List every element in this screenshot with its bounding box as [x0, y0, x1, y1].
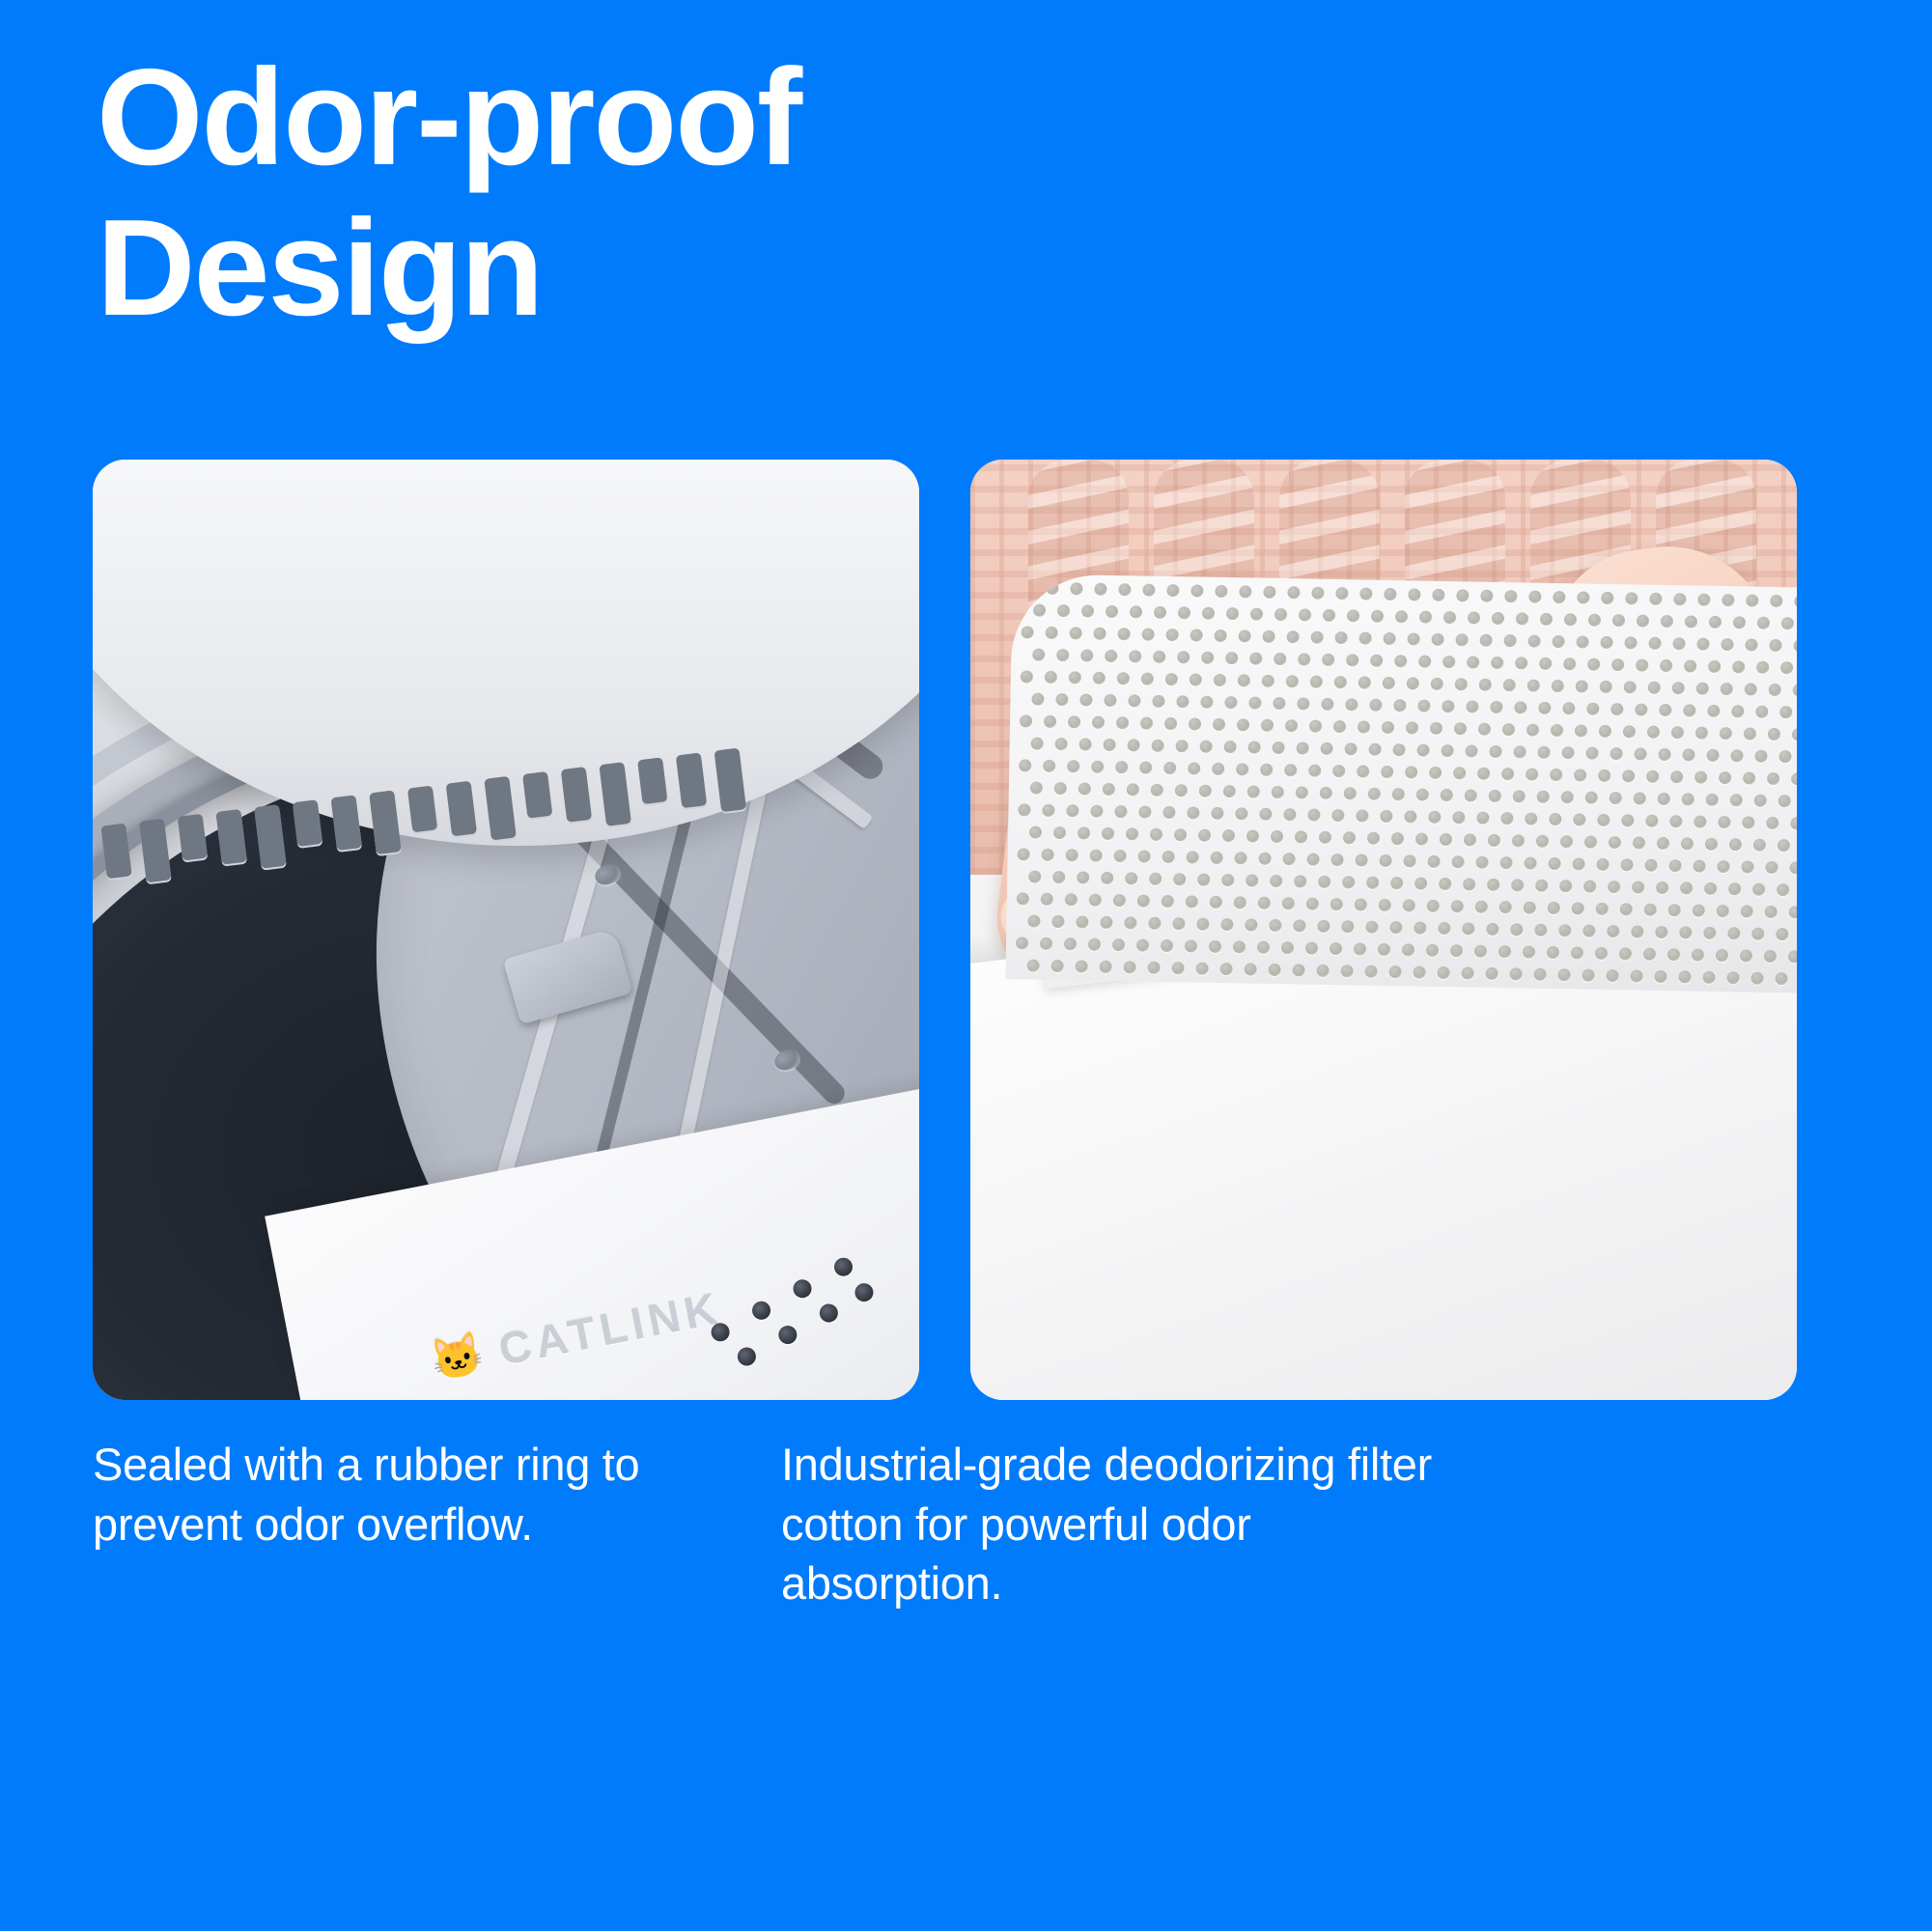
drawer-hole	[1365, 921, 1378, 934]
feature-card-left: 🐱 CATLINK	[93, 460, 919, 1400]
drawer-hole	[1018, 803, 1030, 816]
drawer-hole	[1292, 964, 1304, 976]
drawer-hole	[1646, 770, 1659, 783]
drawer-hole	[1540, 613, 1553, 626]
drawer-hole	[1273, 742, 1285, 754]
drawer-hole	[1056, 649, 1069, 661]
drawer-hole	[1141, 673, 1154, 686]
drawer-hole	[1668, 859, 1681, 872]
drawer-hole	[1172, 962, 1185, 974]
drawer-hole	[1101, 872, 1113, 884]
drawer-hole	[1305, 942, 1318, 955]
drawer-hole	[1659, 704, 1671, 716]
drawer-hole	[1415, 833, 1428, 846]
drawer-hole	[1042, 849, 1054, 861]
drawer-hole	[1323, 609, 1335, 622]
drawer-hole	[1769, 684, 1781, 696]
drawer-hole	[1213, 718, 1225, 731]
drawer-hole	[1414, 921, 1426, 934]
drawer-hole	[1462, 922, 1474, 935]
drawer-hole	[1778, 750, 1791, 763]
drawer-hole	[1021, 670, 1033, 683]
drawer-hole	[1200, 741, 1213, 753]
drawer-hole	[1246, 874, 1258, 886]
drawer-hole	[1188, 762, 1200, 774]
drawer-hole	[1331, 809, 1344, 822]
drawer-hole	[1717, 905, 1729, 917]
drawer-hole	[1066, 849, 1078, 861]
drawer-hole	[1210, 896, 1222, 909]
drawer-hole	[1513, 745, 1526, 758]
drawer-hole	[1779, 706, 1792, 718]
drawer-hole	[1600, 681, 1612, 693]
drawer-hole	[1045, 671, 1057, 684]
filter-install-photo	[970, 460, 1797, 1400]
drawer-hole	[1019, 759, 1031, 771]
drawer-hole	[1731, 705, 1744, 717]
drawer-hole	[1525, 812, 1537, 825]
drawer-hole	[1238, 674, 1250, 686]
drawer-hole	[1432, 589, 1444, 602]
drawer-hole	[1371, 610, 1384, 623]
drawer-hole	[1622, 770, 1635, 782]
drawer-hole	[1175, 784, 1188, 797]
drawer-hole	[1281, 941, 1294, 954]
vent-slot	[599, 762, 631, 826]
drawer-hole	[1461, 966, 1473, 979]
drawer-hole	[1311, 587, 1324, 600]
drawer-hole	[1499, 856, 1512, 869]
drawer-hole	[1384, 632, 1396, 645]
drawer-hole	[1187, 806, 1199, 819]
drawer-hole	[1089, 894, 1102, 907]
drawer-hole	[1260, 764, 1273, 776]
drawer-hole	[1788, 950, 1797, 963]
drawer-hole	[1248, 741, 1261, 753]
drawer-hole	[1438, 922, 1450, 935]
drawer-hole	[1597, 814, 1610, 826]
drawer-hole	[1269, 964, 1281, 976]
drawer-hole	[1601, 592, 1613, 604]
drawer-hole	[1491, 657, 1503, 669]
drawer-hole	[1117, 672, 1130, 685]
drawer-hole	[1563, 658, 1576, 670]
drawer-hole	[1537, 791, 1550, 803]
drawer-hole	[1382, 721, 1394, 734]
drawer-hole	[1684, 659, 1696, 672]
drawer-hole	[1090, 850, 1103, 862]
drawer-hole	[1523, 945, 1535, 958]
drawer-hole	[1789, 906, 1797, 918]
drawer-hole	[1222, 829, 1235, 842]
drawer-hole	[1516, 612, 1528, 625]
drawer-hole	[1355, 898, 1367, 910]
drawer-hole	[1297, 697, 1309, 710]
drawer-hole	[1236, 763, 1248, 775]
drawer-hole	[1718, 816, 1730, 828]
feature-card-right	[970, 460, 1797, 1400]
drawer-hole	[1416, 789, 1429, 801]
drawer-hole	[1574, 769, 1586, 781]
drawer-hole	[1549, 813, 1561, 826]
drawer-hole	[1656, 882, 1668, 894]
drawer-hole	[1794, 595, 1797, 607]
drawer-hole	[1452, 811, 1465, 824]
drawer-hole	[1152, 740, 1164, 752]
drawer-hole	[1466, 700, 1478, 713]
drawer-hole	[1416, 744, 1429, 757]
drawer-hole	[1526, 723, 1539, 736]
drawer-hole	[1022, 581, 1034, 594]
drawer-hole	[1765, 906, 1778, 918]
drawer-hole	[1358, 720, 1370, 733]
drawer-hole	[1053, 826, 1066, 839]
drawer-hole	[1068, 715, 1080, 728]
drawer-hole	[1215, 585, 1227, 598]
drawer-hole	[1262, 675, 1274, 687]
drawer-hole	[1789, 861, 1797, 874]
drawer-hole	[1139, 762, 1152, 774]
drawer-hole	[1730, 794, 1743, 806]
drawer-hole	[1559, 880, 1572, 892]
drawer-hole	[1575, 724, 1587, 737]
drawer-hole	[1249, 652, 1262, 664]
drawer-hole	[1649, 593, 1662, 605]
drawer-hole	[1335, 631, 1348, 644]
drawer-hole	[1623, 725, 1636, 738]
drawer-hole	[1196, 963, 1209, 975]
drawer-hole	[1198, 829, 1211, 842]
drawer-hole	[1720, 727, 1732, 740]
drawer-hole	[1294, 875, 1306, 887]
drawer-hole	[1239, 630, 1251, 642]
drawer-hole	[1330, 854, 1343, 866]
drawer-hole	[1550, 769, 1562, 781]
drawer-hole	[1624, 681, 1637, 693]
drawer-hole	[1384, 588, 1396, 601]
drawer-hole	[1465, 789, 1477, 801]
drawer-hole	[1539, 658, 1552, 670]
drawer-hole	[1585, 747, 1598, 760]
drawer-hole	[1780, 661, 1793, 674]
drawer-hole	[1619, 947, 1632, 960]
drawer-hole	[1212, 763, 1224, 775]
drawer-hole	[1679, 926, 1692, 938]
vent-slot	[100, 824, 132, 880]
drawer-hole	[1090, 805, 1103, 818]
drawer-hole	[1233, 940, 1246, 953]
drawer-hole	[1114, 805, 1127, 818]
drawer-hole	[1296, 786, 1308, 798]
drawer-hole	[1775, 972, 1787, 985]
drawer-hole	[1427, 900, 1440, 912]
drawer-hole	[1696, 683, 1709, 695]
drawer-hole	[1620, 903, 1633, 915]
drawer-hole	[1478, 723, 1491, 736]
drawer-hole	[1717, 860, 1729, 873]
drawer-hole	[1033, 604, 1046, 617]
drawer-hole	[1751, 928, 1764, 940]
drawer-hole	[1381, 766, 1393, 778]
drawer-hole	[1235, 807, 1247, 820]
drawer-hole	[1645, 815, 1658, 827]
drawer-hole	[1512, 834, 1525, 847]
drawer-hole	[1330, 942, 1342, 955]
drawer-hole	[1177, 651, 1190, 663]
drawer-hole	[1740, 949, 1752, 962]
drawer-hole	[1610, 747, 1622, 760]
drawer-hole	[1248, 696, 1261, 709]
drawer-hole	[1719, 771, 1731, 784]
drawer-hole	[1166, 584, 1179, 597]
drawer-hole	[1076, 960, 1088, 972]
drawer-hole	[1307, 809, 1320, 822]
drawer-hole	[1793, 684, 1797, 696]
drawer-hole	[1129, 650, 1141, 662]
drawer-hole	[1172, 917, 1185, 930]
drawer-hole	[1395, 610, 1408, 623]
drawer-hole	[1413, 965, 1425, 978]
drawer-hole	[1318, 876, 1330, 888]
drawer-hole	[1661, 615, 1673, 628]
drawer-hole	[1764, 950, 1777, 963]
drawer-hole	[1538, 702, 1551, 714]
drawer-hole	[1295, 830, 1307, 843]
drawer-hole	[1043, 760, 1055, 772]
drawer-hole	[1500, 812, 1513, 825]
drawer-hole	[1165, 673, 1178, 686]
drawer-hole	[1752, 883, 1765, 896]
drawer-hole	[1306, 898, 1319, 910]
drawer-hole	[1552, 680, 1564, 692]
drawer-hole	[1468, 611, 1480, 624]
drawer-hole	[1094, 583, 1106, 596]
drawer-hole	[1176, 695, 1189, 708]
drawer-hole	[1631, 925, 1643, 938]
drawer-hole	[1118, 628, 1131, 640]
drawer-hole	[1149, 873, 1162, 885]
drawer-hole	[1465, 744, 1477, 757]
drawer-hole	[1334, 676, 1347, 688]
drawer-hole	[1044, 715, 1056, 728]
drawer-hole	[1358, 676, 1371, 688]
drawer-hole	[1104, 739, 1116, 751]
drawer-hole	[1595, 947, 1608, 960]
drawer-hole	[1479, 679, 1492, 691]
drawer-hole	[1669, 815, 1682, 827]
drawer-hole	[1442, 700, 1454, 713]
drawer-hole	[1620, 858, 1633, 871]
drawer-hole	[1480, 590, 1493, 602]
drawer-hole	[1487, 879, 1499, 891]
drawer-hole	[1596, 858, 1609, 871]
drawer-hole	[1681, 837, 1694, 850]
drawer-hole	[1606, 969, 1618, 982]
drawer-hole	[1057, 604, 1070, 617]
drawer-hole	[1588, 614, 1601, 627]
drawer-hole	[1634, 747, 1646, 760]
drawer-hole	[1702, 971, 1715, 984]
drawer-hole	[1515, 657, 1527, 669]
drawer-hole	[1793, 639, 1797, 652]
drawer-hole	[1259, 853, 1272, 865]
drawer-hole	[1643, 948, 1656, 961]
drawer-hole	[1769, 639, 1781, 652]
drawer-hole	[1489, 745, 1501, 758]
drawer-hole	[1633, 836, 1645, 849]
drawer-hole	[1162, 895, 1174, 908]
drawer-hole	[1054, 782, 1067, 795]
drawer-hole	[1671, 726, 1684, 739]
drawer-hole	[1064, 938, 1077, 950]
drawer-hole	[1283, 808, 1296, 821]
drawer-hole	[1176, 740, 1189, 752]
drawer-hole	[1586, 703, 1599, 715]
drawer-hole	[1189, 717, 1201, 730]
drawer-hole	[1239, 585, 1251, 598]
drawer-hole	[1261, 719, 1274, 732]
drawer-hole	[1342, 876, 1355, 888]
drawer-hole	[1118, 583, 1131, 596]
litter-box-seal-photo: 🐱 CATLINK	[93, 460, 919, 1400]
drawer-hole	[1148, 962, 1161, 974]
drawer-hole	[1366, 877, 1379, 889]
drawer-hole	[1344, 787, 1357, 799]
drawer-hole	[1393, 699, 1406, 712]
drawer-hole	[1379, 899, 1391, 911]
drawer-hole	[1536, 835, 1549, 848]
drawer-hole	[1027, 915, 1040, 928]
drawer-hole	[1383, 677, 1395, 689]
drawer-hole	[1269, 919, 1281, 932]
drawer-hole	[1270, 875, 1282, 887]
drawer-hole	[1394, 655, 1407, 667]
drawer-hole	[1127, 783, 1139, 796]
drawer-hole	[1258, 897, 1271, 910]
drawer-hole	[1224, 696, 1237, 709]
drawer-hole	[1635, 703, 1647, 715]
drawer-hole	[1431, 633, 1443, 646]
drawer-hole	[1151, 784, 1163, 797]
drawer-perforations	[1005, 574, 1797, 994]
drawer-hole	[1552, 635, 1564, 648]
drawer-hole	[1610, 703, 1623, 715]
drawer-hole	[1140, 717, 1153, 730]
drawer-hole	[1076, 915, 1088, 928]
drawer-hole	[1443, 611, 1456, 624]
drawer-hole	[1174, 828, 1187, 841]
drawer-hole	[1745, 683, 1757, 695]
drawer-hole	[1655, 926, 1667, 938]
drawer-hole	[1150, 828, 1162, 841]
drawer-hole	[1524, 856, 1536, 869]
drawer-hole	[1016, 937, 1028, 949]
drawer-hole	[1561, 746, 1574, 759]
drawer-hole	[1259, 808, 1272, 821]
drawer-hole	[1031, 693, 1044, 706]
drawer-hole	[1572, 857, 1584, 870]
drawer-hole	[1703, 927, 1716, 939]
drawer-hole	[1576, 635, 1588, 648]
vent-slot	[369, 790, 402, 854]
drawer-hole	[1502, 723, 1515, 736]
vent-slot	[484, 776, 517, 841]
drawer-hole	[1272, 786, 1284, 798]
drawer-hole	[1489, 790, 1501, 802]
drawer-hole	[1341, 920, 1354, 933]
drawer-hole	[1283, 853, 1296, 865]
drawer-hole	[1164, 717, 1177, 730]
drawer-hole	[1453, 767, 1466, 779]
drawer-hole	[1330, 898, 1343, 910]
drawer-hole	[1503, 634, 1516, 647]
drawer-hole	[1042, 804, 1054, 817]
drawer-hole	[1440, 833, 1452, 846]
drawer-hole	[1126, 827, 1138, 840]
drawer-hole	[1345, 698, 1358, 711]
drawer-hole	[1148, 917, 1161, 930]
drawer-hole	[1730, 749, 1743, 762]
drawer-hole	[1610, 792, 1622, 804]
drawer-hole	[1721, 683, 1733, 695]
drawer-hole	[1389, 921, 1402, 934]
drawer-hole	[1105, 650, 1117, 662]
drawer-hole	[1673, 593, 1686, 605]
drawer-hole	[1426, 944, 1439, 957]
drawer-hole	[1600, 636, 1612, 649]
drawer-hole	[1091, 761, 1104, 773]
drawer-hole	[1477, 768, 1490, 780]
drawer-hole	[1450, 944, 1463, 957]
drawer-hole	[1379, 854, 1391, 867]
drawer-hole	[1658, 748, 1670, 761]
drawer-hole	[1332, 765, 1345, 777]
caption-left: Sealed with a rubber ring to prevent odo…	[93, 1435, 730, 1613]
drawer-hole	[1065, 893, 1078, 906]
drawer-hole	[1130, 605, 1142, 618]
drawer-hole	[1052, 871, 1065, 883]
drawer-hole	[1781, 617, 1794, 630]
drawer-hole	[1224, 741, 1237, 753]
drawer-hole	[1092, 716, 1105, 729]
drawer-hole	[1018, 848, 1030, 860]
page-title: Odor-proof Design	[97, 42, 1062, 344]
drawer-hole	[1647, 726, 1660, 739]
drawer-hole	[1716, 949, 1728, 962]
drawer-hole	[1345, 742, 1358, 755]
drawer-hole	[1557, 968, 1570, 981]
drawer-hole	[1644, 859, 1657, 872]
vent-slot	[714, 748, 746, 813]
drawer-hole	[1754, 795, 1767, 807]
drawer-hole	[1778, 795, 1791, 807]
drawer-hole	[1055, 693, 1068, 706]
drawer-hole	[1511, 879, 1524, 891]
drawer-hole	[1441, 789, 1453, 801]
drawer-hole	[1583, 881, 1596, 893]
drawer-hole	[1199, 785, 1212, 798]
drawer-hole	[1430, 722, 1442, 735]
drawer-hole	[1755, 706, 1768, 718]
drawer-hole	[1456, 589, 1469, 602]
drawer-hole	[1079, 738, 1092, 750]
drawer-hole	[1777, 883, 1789, 896]
drawer-hole	[1322, 654, 1334, 666]
drawer-hole	[1479, 634, 1492, 647]
drawer-hole	[1214, 674, 1226, 686]
drawer-hole	[1406, 721, 1418, 734]
drawer-hole	[1080, 649, 1093, 661]
